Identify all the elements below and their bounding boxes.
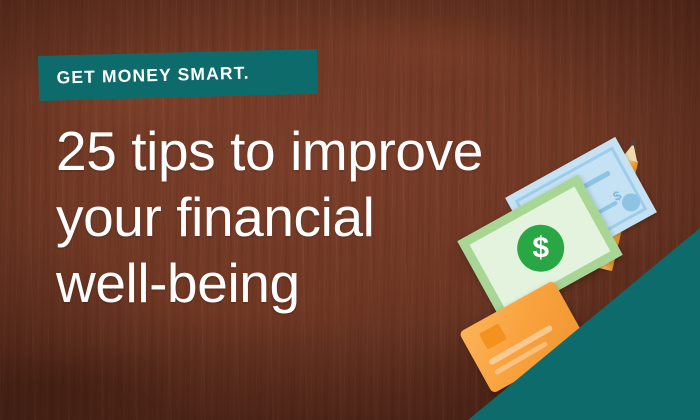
headline-line-1: 25 tips to improve xyxy=(56,118,556,184)
eyebrow-banner: GET MONEY SMART. xyxy=(38,49,318,101)
card-chip xyxy=(479,323,507,349)
headline-line-3: well-being xyxy=(56,250,556,316)
headline-block: 25 tips to improve your financial well-b… xyxy=(56,118,556,316)
promo-graphic: $ $ GET MONEY SMART. 25 tips to improve … xyxy=(0,0,700,420)
headline-line-2: your financial xyxy=(56,184,556,250)
eyebrow-label: GET MONEY SMART. xyxy=(38,64,249,87)
